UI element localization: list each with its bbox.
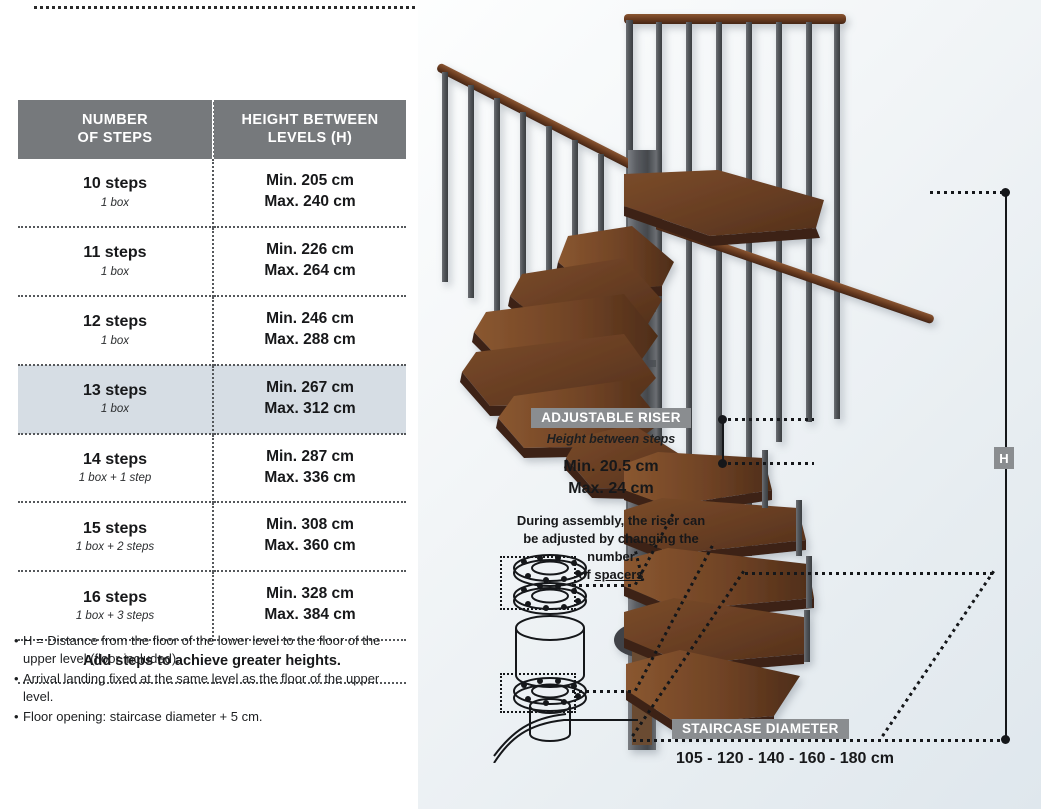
height-dimension-leader-top — [930, 191, 1004, 194]
height-min: Min. 246 cm — [218, 309, 402, 330]
steps-count: 15 steps — [22, 520, 208, 538]
header-left-line1: NUMBER — [22, 111, 208, 129]
table-header-number-of-steps: NUMBER OF STEPS — [18, 100, 213, 159]
height-max: Max. 240 cm — [218, 192, 402, 213]
riser-max-value: Max. 24 cm — [498, 478, 724, 500]
adjustable-riser-subtitle: Height between steps — [498, 432, 724, 446]
header-right-line2: LEVELS (H) — [218, 129, 402, 147]
riser-note-line1: During assembly, the riser can — [498, 512, 724, 530]
steps-packaging: 1 box — [22, 335, 208, 347]
height-cell: Min. 308 cmMax. 360 cm — [213, 502, 406, 571]
steps-packaging: 1 box — [22, 197, 208, 209]
note-text: Floor opening: staircase diameter + 5 cm… — [23, 708, 406, 726]
height-max: Max. 264 cm — [218, 261, 402, 282]
riser-dimension-line — [722, 419, 724, 463]
height-cell: Min. 205 cmMax. 240 cm — [213, 159, 406, 227]
height-min: Min. 226 cm — [218, 240, 402, 261]
steps-packaging: 1 box — [22, 266, 208, 278]
steps-packaging: 1 box + 2 steps — [22, 541, 208, 553]
height-max: Max. 288 cm — [218, 330, 402, 351]
riser-dimension-dot-top — [718, 415, 727, 424]
spacer-leader-top — [572, 584, 634, 587]
note-item: •Arrival landing fixed at the same level… — [14, 670, 406, 705]
height-cell: Min. 226 cmMax. 264 cm — [213, 227, 406, 296]
riser-dimension-leader-bottom — [728, 462, 814, 465]
steps-cell: 10 steps1 box — [18, 159, 213, 227]
note-text: H = Distance from the floor of the lower… — [23, 632, 406, 667]
height-cell: Min. 267 cmMax. 312 cm — [213, 365, 406, 434]
bullet-icon: • — [14, 670, 23, 705]
table-row[interactable]: 11 steps1 boxMin. 226 cmMax. 264 cm — [18, 227, 406, 296]
note-item: •H = Distance from the floor of the lowe… — [14, 632, 406, 667]
floor-plan-bottom-edge — [633, 739, 1005, 742]
staircase-diameter-tag: STAIRCASE DIAMETER — [672, 719, 849, 739]
height-cell: Min. 287 cmMax. 336 cm — [213, 434, 406, 503]
table-row[interactable]: 15 steps1 box + 2 stepsMin. 308 cmMax. 3… — [18, 502, 406, 571]
height-min: Min. 308 cm — [218, 515, 402, 536]
note-text: Arrival landing fixed at the same level … — [23, 670, 406, 705]
steps-count: 10 steps — [22, 175, 208, 193]
table-header-height-between-levels: HEIGHT BETWEEN LEVELS (H) — [213, 100, 406, 159]
steps-cell: 12 steps1 box — [18, 296, 213, 365]
spacer-callout-box-top — [500, 556, 576, 610]
height-min: Min. 267 cm — [218, 378, 402, 399]
steps-cell: 15 steps1 box + 2 steps — [18, 502, 213, 571]
header-right-line1: HEIGHT BETWEEN — [218, 111, 402, 129]
note-item: •Floor opening: staircase diameter + 5 c… — [14, 708, 406, 726]
steps-count: 12 steps — [22, 313, 208, 331]
height-min: Min. 205 cm — [218, 171, 402, 192]
steps-cell: 11 steps1 box — [18, 227, 213, 296]
bullet-icon: • — [14, 708, 23, 726]
riser-dimension-leader-top — [728, 418, 814, 421]
height-max: Max. 336 cm — [218, 468, 402, 489]
steps-count: 14 steps — [22, 451, 208, 469]
height-min: Min. 287 cm — [218, 447, 402, 468]
height-dimension-label: H — [994, 447, 1014, 469]
steps-height-table: NUMBER OF STEPS HEIGHT BETWEEN LEVELS (H… — [18, 100, 388, 684]
table-row[interactable]: 13 steps1 boxMin. 267 cmMax. 312 cm — [18, 365, 406, 434]
steps-cell: 14 steps1 box + 1 step — [18, 434, 213, 503]
bullet-icon: • — [14, 632, 23, 667]
steps-count: 11 steps — [22, 244, 208, 262]
height-max: Max. 384 cm — [218, 605, 402, 626]
riser-min-value: Min. 20.5 cm — [498, 456, 724, 478]
steps-packaging: 1 box + 1 step — [22, 472, 208, 484]
table-row[interactable]: 12 steps1 boxMin. 246 cmMax. 288 cm — [18, 296, 406, 365]
steps-cell: 13 steps1 box — [18, 365, 213, 434]
table-row[interactable]: 14 steps1 box + 1 stepMin. 287 cmMax. 33… — [18, 434, 406, 503]
height-cell: Min. 246 cmMax. 288 cm — [213, 296, 406, 365]
table-row[interactable]: 10 steps1 boxMin. 205 cmMax. 240 cm — [18, 159, 406, 227]
table-row[interactable]: 16 steps1 box + 3 stepsMin. 328 cmMax. 3… — [18, 571, 406, 640]
steps-count: 13 steps — [22, 382, 208, 400]
height-max: Max. 360 cm — [218, 536, 402, 557]
steps-packaging: 1 box — [22, 403, 208, 415]
floor-plan-top-edge — [745, 572, 995, 575]
riser-dimension-dot-bottom — [718, 459, 727, 468]
height-cell: Min. 328 cmMax. 384 cm — [213, 571, 406, 640]
steps-cell: 16 steps1 box + 3 steps — [18, 571, 213, 640]
table-header-row: NUMBER OF STEPS HEIGHT BETWEEN LEVELS (H… — [18, 100, 406, 159]
header-left-line2: OF STEPS — [22, 129, 208, 147]
spacer-callout-box-bottom — [500, 673, 576, 713]
height-max: Max. 312 cm — [218, 399, 402, 420]
notes-list: •H = Distance from the floor of the lowe… — [14, 632, 406, 729]
steps-packaging: 1 box + 3 steps — [22, 610, 208, 622]
height-min: Min. 328 cm — [218, 584, 402, 605]
steps-count: 16 steps — [22, 589, 208, 607]
spacer-leader-bottom — [572, 690, 634, 693]
table-body: 10 steps1 boxMin. 205 cmMax. 240 cm11 st… — [18, 159, 406, 640]
adjustable-riser-tag: ADJUSTABLE RISER — [531, 408, 691, 428]
